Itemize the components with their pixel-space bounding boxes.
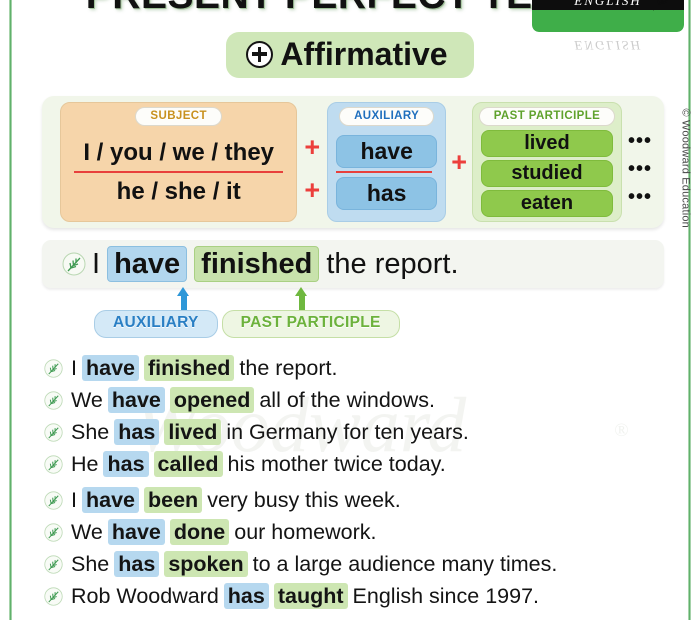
ellipsis-column: ••• ••• ••• (622, 102, 656, 222)
example-remainder: to a large audience many times. (253, 551, 558, 577)
examples-group-2: I have been very busy this week. We have… (44, 487, 660, 615)
example-auxiliary: have (82, 487, 139, 513)
example-auxiliary: have (82, 355, 139, 381)
fern-leaf-bullet-icon (44, 359, 63, 378)
example-sentence: Rob Woodward has taught English since 19… (71, 583, 539, 609)
featured-auxiliary: have (107, 246, 187, 282)
callout-past-participle: PAST PARTICIPLE (222, 310, 400, 338)
example-sentence: We have opened all of the windows. (71, 387, 435, 413)
fern-leaf-bullet-icon (44, 523, 63, 542)
arrow-head-auxiliary (177, 287, 189, 296)
example-subject: Rob Woodward (71, 583, 219, 609)
example-auxiliary: have (108, 387, 165, 413)
featured-remainder: the report. (326, 247, 458, 281)
list-item: We have done our homework. (44, 519, 660, 551)
example-sentence: I have been very busy this week. (71, 487, 401, 513)
plus-stack-subject-aux: + + (297, 102, 327, 222)
example-participle: done (170, 519, 229, 545)
arrow-head-participle (295, 287, 307, 296)
ellipsis-1: ••• (628, 157, 652, 182)
subject-line-plural: I / you / we / they (83, 138, 274, 168)
fern-leaf-bullet-icon (44, 491, 63, 510)
plus-sign-3: + (446, 149, 472, 176)
examples-group-1: I have finished the report. We have open… (44, 355, 660, 483)
example-remainder: very busy this week. (207, 487, 401, 513)
formula-panel: SUBJECT I / you / we / they he / she / i… (42, 96, 664, 228)
past-participle-column: PAST PARTICIPLE lived studied eaten (472, 102, 622, 222)
plus-circle-icon (246, 41, 273, 68)
list-item: I have been very busy this week. (44, 487, 660, 519)
example-sentence: He has called his mother twice today. (71, 451, 446, 477)
list-item: We have opened all of the windows. (44, 387, 660, 419)
example-participle: finished (144, 355, 234, 381)
example-subject: We (71, 387, 103, 413)
example-remainder: in Germany for ten years. (226, 419, 469, 445)
example-auxiliary: has (224, 583, 269, 609)
example-subject: She (71, 551, 109, 577)
past-participle-option-0: lived (481, 130, 613, 157)
affirmative-label: Affirmative (280, 36, 447, 72)
auxiliary-options: have has (336, 130, 437, 215)
subject-pronoun-lines: I / you / we / they he / she / it (69, 130, 288, 215)
past-participle-option-2: eaten (481, 190, 613, 217)
subject-column: SUBJECT I / you / we / they he / she / i… (60, 102, 297, 222)
past-participle-option-1: studied (481, 160, 613, 187)
auxiliary-option-have: have (336, 135, 437, 168)
example-participle: been (144, 487, 202, 513)
ellipsis-2: ••• (628, 185, 652, 210)
list-item: She has lived in Germany for ten years. (44, 419, 660, 451)
example-subject: He (71, 451, 98, 477)
list-item: She has spoken to a large audience many … (44, 551, 660, 583)
example-subject: She (71, 419, 109, 445)
left-border-rule (9, 0, 12, 620)
page-content: Woodward Woodward ® PRESENT PERFECT TENS… (14, 0, 686, 620)
example-remainder: our homework. (234, 519, 376, 545)
affirmative-badge: Affirmative (226, 32, 473, 78)
example-participle: called (154, 451, 223, 477)
plus-sign-1: + (301, 134, 323, 161)
plus-sign-2: + (301, 177, 323, 204)
example-subject: I (71, 355, 77, 381)
example-sentence: I have finished the report. (71, 355, 337, 381)
featured-subject: I (92, 247, 100, 281)
example-auxiliary: have (108, 519, 165, 545)
auxiliary-divider (336, 171, 432, 173)
affirmative-badge-row: Affirmative (14, 32, 686, 78)
example-sentence: We have done our homework. (71, 519, 376, 545)
example-subject: I (71, 487, 77, 513)
right-border-rule (688, 0, 691, 620)
callout-labels: AUXILIARY PAST PARTICIPLE (94, 310, 400, 338)
example-remainder: English since 1997. (353, 583, 539, 609)
callout-auxiliary: AUXILIARY (94, 310, 218, 338)
subject-tag: SUBJECT (135, 107, 221, 126)
example-remainder: his mother twice today. (228, 451, 446, 477)
example-participle: spoken (164, 551, 247, 577)
fern-leaf-bullet-icon (44, 555, 63, 574)
example-sentence: She has lived in Germany for ten years. (71, 419, 469, 445)
subject-divider (74, 171, 282, 173)
auxiliary-tag: AUXILIARY (339, 107, 434, 126)
featured-example-row: I have finished the report. (42, 240, 664, 288)
fern-leaf-bullet-icon (44, 455, 63, 474)
woodward-english-logo: Woodward ENGLISH (532, 0, 684, 32)
featured-example-text: I have finished the report. (92, 246, 459, 282)
fern-leaf-bullet-icon (62, 252, 86, 276)
example-auxiliary: has (114, 419, 159, 445)
example-sentence: She has spoken to a large audience many … (71, 551, 557, 577)
subject-line-singular: he / she / it (117, 177, 241, 207)
past-participle-tag: PAST PARTICIPLE (479, 107, 616, 126)
fern-leaf-bullet-icon (44, 391, 63, 410)
featured-participle: finished (194, 246, 319, 282)
fern-leaf-icon (650, 0, 678, 12)
example-auxiliary: has (114, 551, 159, 577)
auxiliary-option-has: has (336, 177, 437, 210)
list-item: He has called his mother twice today. (44, 451, 660, 483)
ellipsis-0: ••• (628, 129, 652, 154)
example-participle: taught (274, 583, 348, 609)
fern-leaf-bullet-icon (44, 423, 63, 442)
list-item: Rob Woodward has taught English since 19… (44, 583, 660, 615)
auxiliary-column: AUXILIARY have has (327, 102, 446, 222)
past-participle-options: lived studied eaten (481, 130, 613, 217)
example-participle: lived (164, 419, 221, 445)
example-participle: opened (170, 387, 254, 413)
fern-leaf-bullet-icon (44, 587, 63, 606)
example-remainder: the report. (239, 355, 337, 381)
list-item: I have finished the report. (44, 355, 660, 387)
example-auxiliary: has (103, 451, 148, 477)
example-subject: We (71, 519, 103, 545)
copyright-notice: © Woodward Education (680, 108, 692, 228)
example-remainder: all of the windows. (259, 387, 435, 413)
